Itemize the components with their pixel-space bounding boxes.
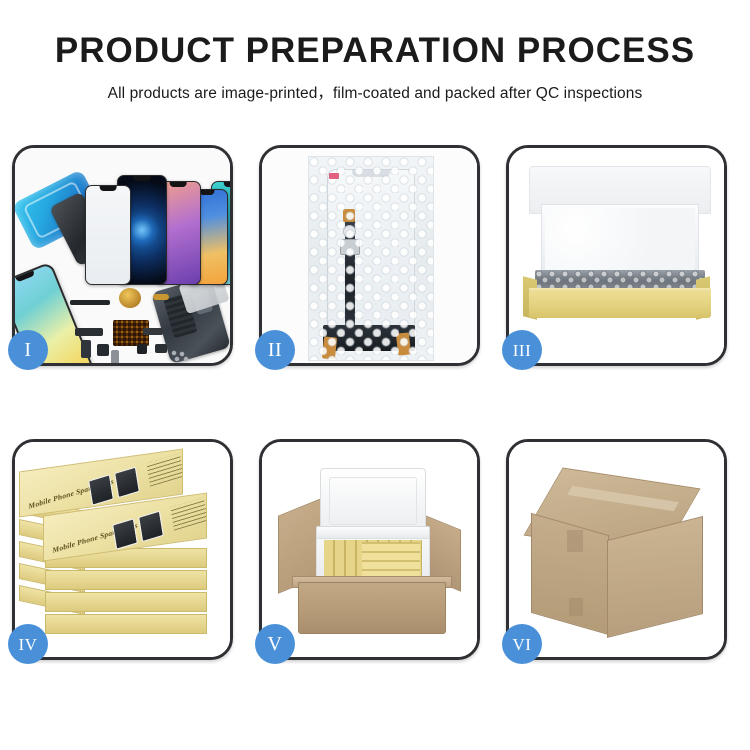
notch-icon	[100, 186, 117, 191]
phone-screen-white-icon	[85, 185, 131, 285]
process-step-panel-5[interactable]: V	[259, 439, 480, 660]
yellow-boxes-contents-secondary	[362, 542, 420, 578]
box-screen-graphic	[138, 511, 164, 543]
step-badge-4: IV	[8, 624, 48, 664]
foam-lid-icon	[320, 468, 426, 532]
earpiece-speaker-icon	[155, 344, 167, 353]
step-badge-3: III	[502, 330, 542, 370]
spare-parts-group	[67, 288, 195, 363]
box-screen-graphic	[88, 474, 114, 506]
step-badge-5: V	[255, 624, 295, 664]
page-subtitle: All products are image-printed，film-coat…	[0, 68, 750, 103]
flex-cable-3-icon	[97, 344, 109, 356]
step-badge-6: VI	[502, 624, 542, 664]
step-5-image	[262, 442, 477, 657]
notch-icon	[170, 182, 187, 187]
power-button-flex-icon	[153, 294, 169, 300]
screws-icon	[171, 350, 191, 362]
process-step-panel-1[interactable]: I	[12, 145, 233, 366]
notch-icon	[199, 190, 214, 195]
speaker-strip-icon	[70, 300, 110, 305]
camera-module-icon	[137, 344, 147, 354]
box-spec-lines	[146, 453, 183, 486]
yellow-box-front-icon	[529, 292, 711, 318]
flex-cable-1-icon	[75, 328, 103, 336]
bubble-wrap-bag	[308, 156, 434, 361]
notch-icon	[133, 176, 151, 181]
step-6-image	[509, 442, 724, 657]
qc-sticker-icon	[329, 173, 339, 179]
yellow-box-stack: Mobile Phone Spare Parts Mobile Phone Sp…	[15, 442, 230, 657]
step-3-image	[509, 148, 724, 363]
phone-screen-fan	[85, 170, 225, 285]
vibration-motor-icon	[119, 288, 141, 308]
stacked-box-edge	[45, 592, 207, 612]
flex-cable-2-icon	[81, 340, 91, 358]
bubble-texture-overlay	[309, 157, 433, 360]
process-step-panel-4[interactable]: Mobile Phone Spare Parts Mobile Phone Sp…	[12, 439, 233, 660]
carton-front-icon	[298, 582, 446, 634]
box-spec-lines	[170, 497, 207, 530]
page-header: PRODUCT PREPARATION PROCESS All products…	[0, 0, 750, 103]
process-step-panel-3[interactable]: III	[506, 145, 727, 366]
box-screen-graphic	[114, 467, 140, 499]
step-2-image	[262, 148, 477, 363]
white-foam-sheet-icon	[545, 208, 695, 272]
process-step-grid: I II	[12, 145, 738, 660]
carton-seam-upper-icon	[567, 530, 583, 552]
step-1-image	[15, 148, 230, 363]
volume-button-flex-icon	[143, 328, 163, 335]
page-title: PRODUCT PREPARATION PROCESS	[0, 33, 750, 68]
carton-seam-lower-icon	[569, 598, 583, 616]
step-badge-1: I	[8, 330, 48, 370]
stacked-box-edge	[45, 614, 207, 634]
sim-tray-icon	[111, 350, 119, 363]
step-badge-2: II	[255, 330, 295, 370]
process-step-panel-6[interactable]: VI	[506, 439, 727, 660]
box-screen-graphic	[112, 518, 138, 550]
process-step-panel-2[interactable]: II	[259, 145, 480, 366]
stacked-box-edge	[45, 570, 207, 590]
notch-icon	[224, 182, 230, 187]
step-4-image: Mobile Phone Spare Parts Mobile Phone Sp…	[15, 442, 230, 657]
